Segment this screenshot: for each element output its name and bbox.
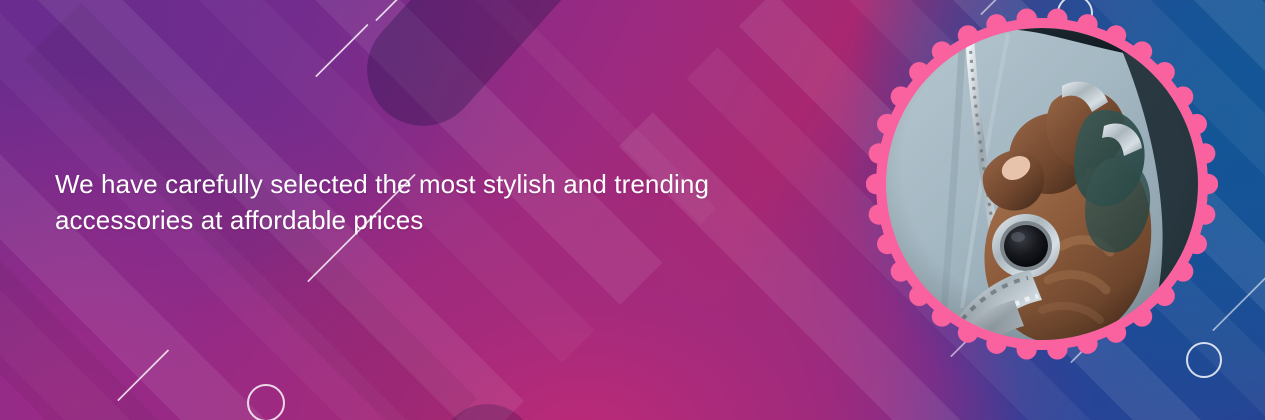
photo-content <box>866 8 1218 360</box>
promo-banner: We have carefully selected the most styl… <box>0 0 1265 420</box>
product-photo-medallion <box>866 8 1218 360</box>
decor-ring-bottom-left <box>247 384 285 420</box>
banner-headline: We have carefully selected the most styl… <box>55 166 735 238</box>
